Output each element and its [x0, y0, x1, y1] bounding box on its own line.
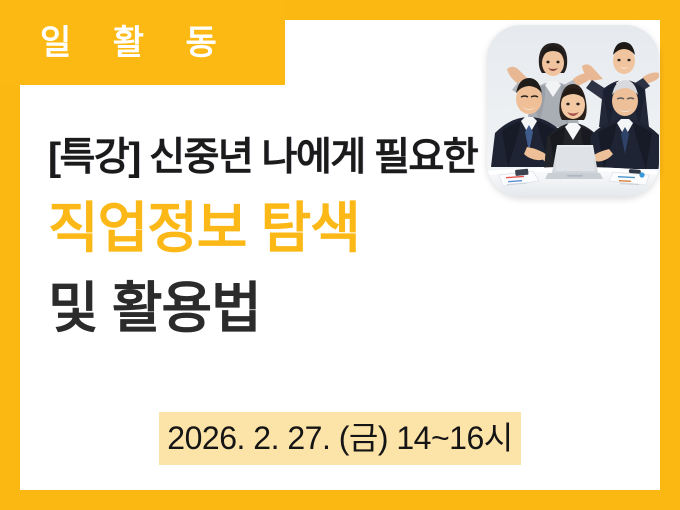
schedule-datetime: 2026. 2. 27. (금) 14~16시	[159, 412, 520, 465]
headline-line-2: 직업정보 탐색	[48, 188, 518, 268]
promo-banner: 일 활 동	[0, 0, 680, 510]
group-photo	[487, 25, 659, 197]
headline-block: [특강] 신중년 나에게 필요한 직업정보 탐색 및 활용법	[48, 128, 518, 348]
top-frame-strip	[285, 0, 680, 20]
header-tab: 일 활 동	[0, 0, 285, 85]
headline-line-3: 및 활용법	[48, 268, 518, 348]
header-tab-label: 일 활 동	[40, 24, 233, 62]
schedule-row: 2026. 2. 27. (금) 14~16시	[0, 412, 680, 465]
headline-line-1: [특강] 신중년 나에게 필요한	[48, 128, 518, 188]
